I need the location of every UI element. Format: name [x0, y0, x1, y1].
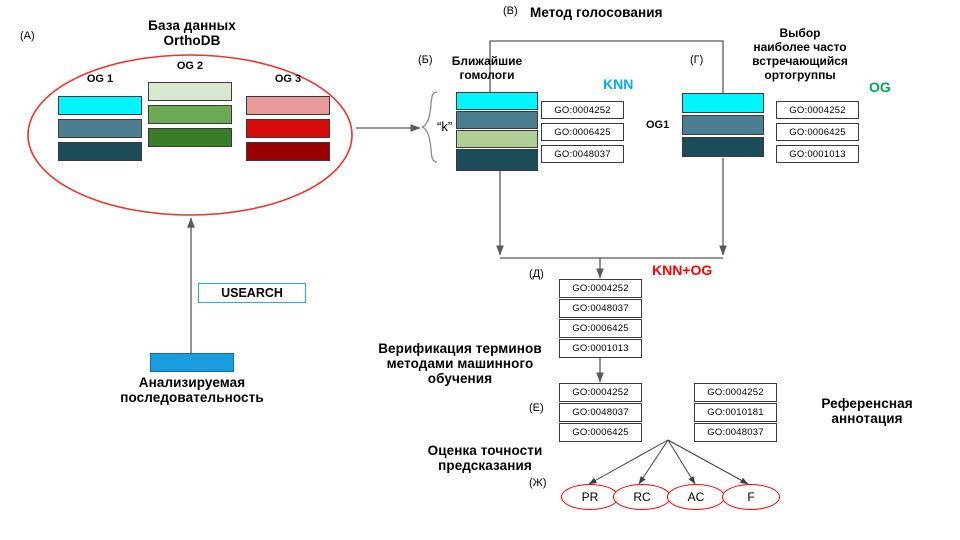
panel-label-b: (Б) [418, 54, 433, 66]
reference-go-term: GO:0004252 [694, 383, 777, 402]
metric-rc[interactable]: RC [613, 484, 671, 510]
homolog-go-term: GO:0048037 [541, 145, 624, 163]
homologs-title: Ближайшие гомологи [432, 54, 542, 82]
orthogroup-title: Выбор наиболее часто встречающийся ортог… [730, 26, 870, 82]
verified-go-term: GO:0004252 [559, 383, 642, 402]
og2-member-3 [148, 128, 232, 147]
query-sequence-box [150, 353, 234, 372]
query-sequence-caption: Анализируемая последовательность [112, 375, 272, 405]
combined-go-term: GO:0006425 [559, 319, 642, 338]
homolog-block-2 [456, 111, 538, 129]
og1-member-3 [58, 142, 142, 161]
evaluation-title: Оценка точности предсказания [410, 443, 560, 473]
reference-title: Референсная аннотация [792, 396, 942, 426]
og1-member-1 [58, 96, 142, 115]
og1-group-label: OG1 [646, 119, 669, 131]
og3-caption: OG 3 [246, 73, 330, 85]
voting-title: Метод голосования [530, 5, 690, 20]
orthogroup-go-term: GO:0001013 [776, 145, 859, 163]
combined-go-term: GO:0001013 [559, 339, 642, 358]
verified-go-term: GO:0048037 [559, 403, 642, 422]
metric-f[interactable]: F [722, 484, 780, 510]
k-label: “k” [437, 119, 452, 134]
reference-go-term: GO:0010181 [694, 403, 777, 422]
og3-member-3 [246, 142, 330, 161]
orthogroup-block-1 [682, 93, 764, 113]
k-brace [422, 92, 437, 162]
panel-label-a: (A) [20, 30, 35, 42]
og1-member-2 [58, 119, 142, 138]
combined-go-term: GO:0004252 [559, 279, 642, 298]
orthogroup-go-term: GO:0006425 [776, 123, 859, 141]
panel-label-g: (Г) [690, 54, 703, 66]
og-label: OG [869, 79, 891, 95]
og3-member-2 [246, 119, 330, 138]
homolog-block-4 [456, 149, 538, 171]
homolog-block-3 [456, 130, 538, 148]
og2-member-2 [148, 105, 232, 124]
knn-label: KNN [603, 76, 633, 92]
verification-title: Верификация терминов методами машинного … [362, 341, 558, 386]
usearch-label: USEARCH [198, 283, 306, 303]
verified-go-term: GO:0006425 [559, 423, 642, 442]
homolog-block-1 [456, 92, 538, 110]
metric-pr[interactable]: PR [561, 484, 619, 510]
panel-label-zh: (Ж) [529, 477, 546, 489]
orthodb-title: База данных OrthoDB [98, 18, 286, 48]
panel-label-d: (Д) [529, 268, 544, 280]
diagram-canvas: (A) База данных OrthoDB OG 1 OG 2 OG 3 (… [0, 0, 960, 540]
homolog-go-term: GO:0006425 [541, 123, 624, 141]
knn-og-label: KNN+OG [652, 262, 712, 278]
panel-label-e: (Е) [529, 402, 544, 414]
metric-ac[interactable]: AC [667, 484, 725, 510]
reference-go-term: GO:0048037 [694, 423, 777, 442]
orthogroup-go-term: GO:0004252 [776, 101, 859, 119]
orthogroup-block-2 [682, 115, 764, 135]
og2-caption: OG 2 [148, 60, 232, 72]
homolog-go-term: GO:0004252 [541, 101, 624, 119]
orthogroup-block-3 [682, 137, 764, 157]
og3-member-1 [246, 96, 330, 115]
panel-label-v: (В) [503, 5, 518, 17]
combined-go-term: GO:0048037 [559, 299, 642, 318]
og1-caption: OG 1 [58, 73, 142, 85]
og2-member-1 [148, 82, 232, 101]
